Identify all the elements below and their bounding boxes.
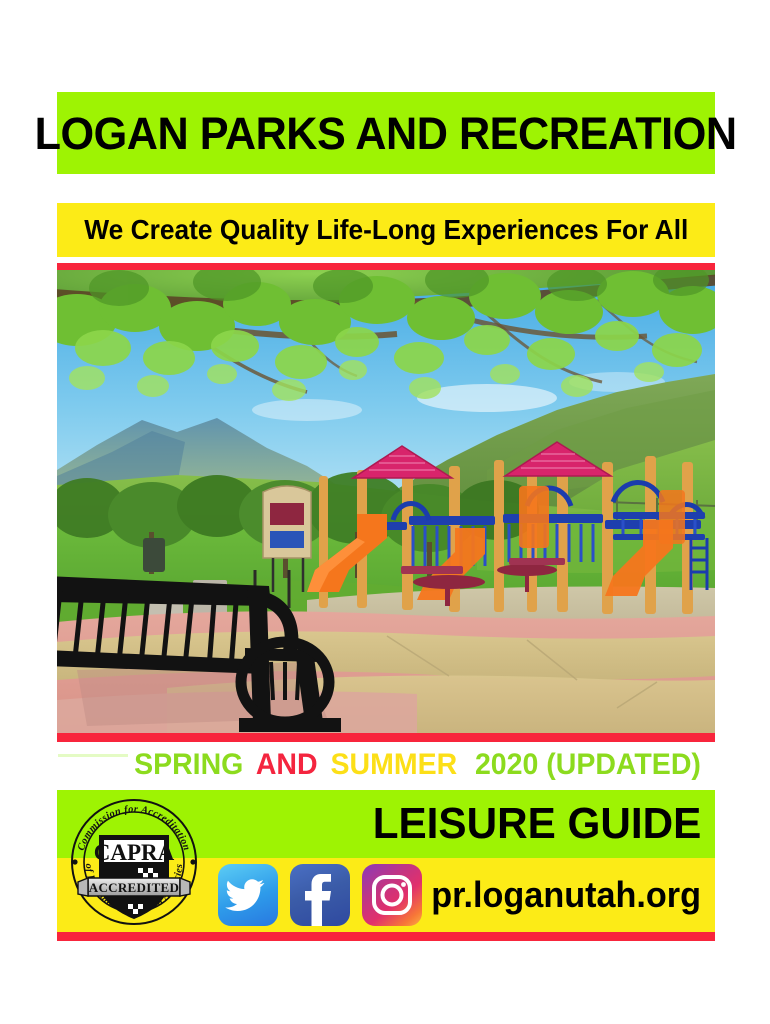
instagram-icon[interactable] [362,864,422,926]
website-url[interactable]: pr.loganutah.org [431,877,701,913]
twitter-bird-glyph [218,864,278,926]
brochure-cover-page: LOGAN PARKS AND RECREATION We Create Qua… [0,0,770,1024]
tagline-banner: We Create Quality Life-Long Experiences … [57,203,715,257]
social-links [218,864,422,926]
title-banner: LOGAN PARKS AND RECREATION [57,92,715,174]
cover-photo [57,270,715,733]
divider-red-footer [57,932,715,941]
twitter-icon[interactable] [218,864,278,926]
facebook-f-glyph [290,864,350,926]
divider-red-top [57,263,715,270]
season-line: SPRING AND SUMMER 2020 (UPDATED) [57,746,715,784]
capra-accreditation-seal: Commission for Accreditation of Park and… [64,792,204,932]
capra-seal-graphic: Commission for Accreditation of Park and… [64,792,204,932]
facebook-icon[interactable] [290,864,350,926]
divider-red-bottom [57,733,715,742]
cover-photo-illustration [57,270,715,733]
instagram-camera-glyph [362,864,422,926]
leisure-guide-title: LEISURE GUIDE [372,802,701,846]
season-spring: SPRING [134,750,251,780]
seal-banner-text: ACCREDITED [89,880,179,895]
season-summer: SUMMER [331,750,466,780]
tagline-text: We Create Quality Life-Long Experiences … [84,216,688,244]
season-year: 2020 (UPDATED) [475,750,701,780]
page-title: LOGAN PARKS AND RECREATION [35,111,737,156]
season-and: AND [256,750,326,780]
seal-acronym: CAPRA [94,840,175,865]
